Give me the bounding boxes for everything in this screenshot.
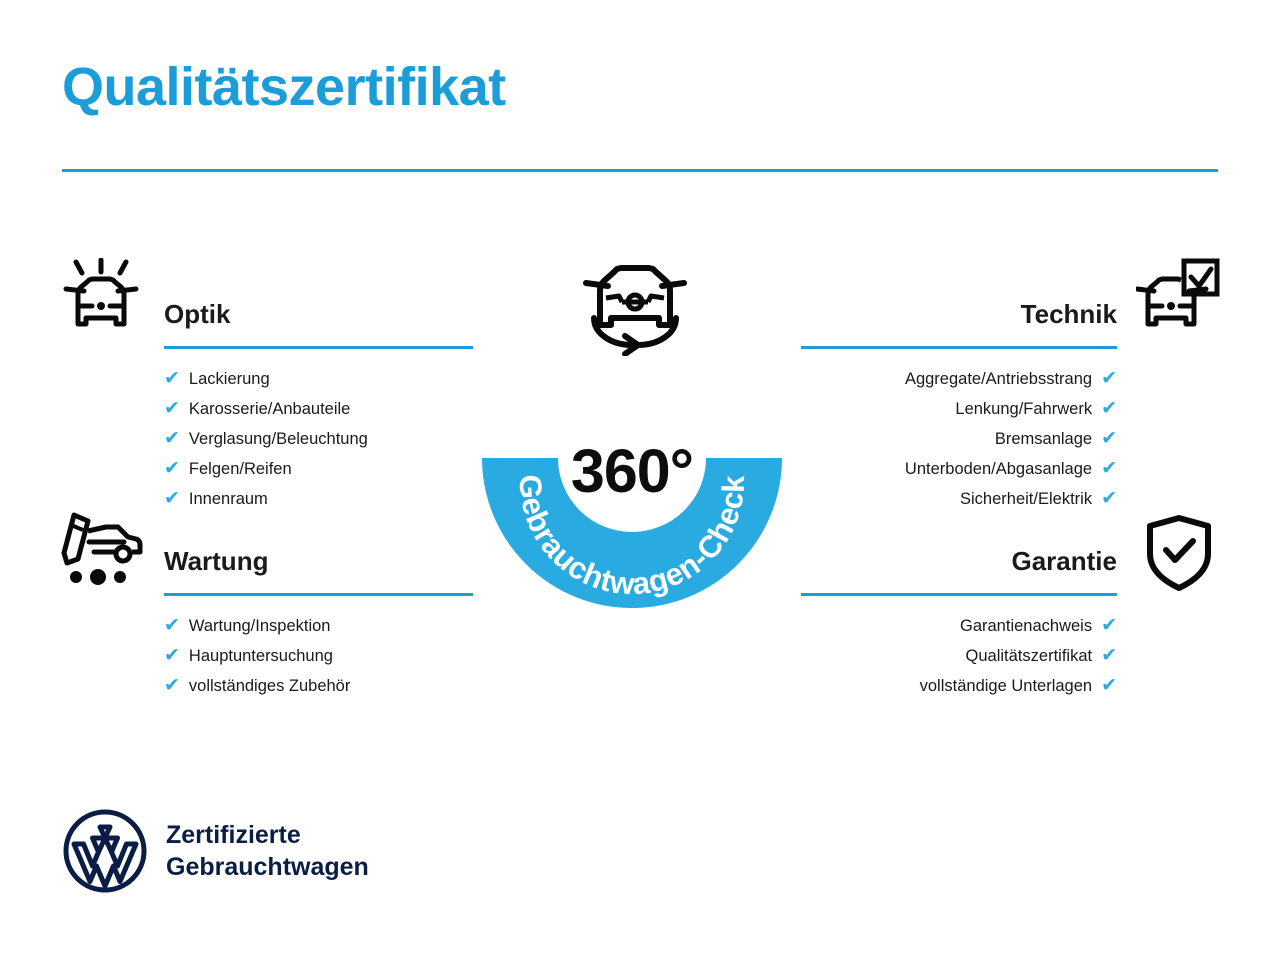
shield-check-icon	[1144, 514, 1214, 597]
check-icon: ✔	[1101, 454, 1117, 484]
section-header-wartung: Wartung	[164, 544, 473, 596]
check-icon: ✔	[164, 671, 180, 701]
list-item: Sicherheit/Elektrik ✔	[801, 484, 1117, 514]
list-item: ✔ Karosserie/Anbauteile	[164, 394, 473, 424]
check-icon: ✔	[1101, 671, 1117, 701]
list-item-label: Felgen/Reifen	[189, 454, 292, 484]
gebrauchtwagen-check-badge: Gebrauchtwagen-Check 360°	[462, 252, 812, 642]
section-wartung: Wartung ✔ Wartung/Inspektion ✔ Hauptunte…	[164, 544, 473, 701]
list-item: ✔ Wartung/Inspektion	[164, 611, 473, 641]
list-item: ✔ Hauptuntersuchung	[164, 641, 473, 671]
list-item: Lenkung/Fahrwerk ✔	[801, 394, 1117, 424]
section-divider-optik	[164, 346, 473, 349]
list-item-label: Lackierung	[189, 364, 270, 394]
section-header-optik: Optik	[164, 297, 473, 349]
list-item-label: vollständige Unterlagen	[920, 671, 1092, 701]
check-icon: ✔	[164, 394, 180, 424]
list-item-label: Bremsanlage	[995, 424, 1092, 454]
section-header-technik: Technik	[801, 297, 1117, 349]
check-icon: ✔	[164, 424, 180, 454]
list-item: ✔ Verglasung/Beleuchtung	[164, 424, 473, 454]
list-item: ✔ Lackierung	[164, 364, 473, 394]
check-icon: ✔	[1101, 424, 1117, 454]
list-item-label: Aggregate/Antriebsstrang	[905, 364, 1092, 394]
check-icon: ✔	[1101, 641, 1117, 671]
title-divider	[62, 169, 1218, 172]
section-title-optik: Optik	[164, 297, 473, 331]
checklist-garantie: Garantienachweis ✔ Qualitätszertifikat ✔…	[801, 611, 1117, 701]
section-divider-garantie	[801, 593, 1117, 596]
vw-logo-icon	[62, 808, 148, 894]
list-item: ✔ Felgen/Reifen	[164, 454, 473, 484]
list-item-label: Wartung/Inspektion	[189, 611, 331, 641]
list-item: Aggregate/Antriebsstrang ✔	[801, 364, 1117, 394]
section-title-wartung: Wartung	[164, 544, 473, 578]
checklist-wartung: ✔ Wartung/Inspektion ✔ Hauptuntersuchung…	[164, 611, 473, 701]
list-item: Bremsanlage ✔	[801, 424, 1117, 454]
check-icon: ✔	[1101, 611, 1117, 641]
footer-label: Zertifizierte Gebrauchtwagen	[166, 819, 369, 883]
list-item: ✔ vollständiges Zubehör	[164, 671, 473, 701]
vw-certified-logo: Zertifizierte Gebrauchtwagen	[62, 808, 369, 894]
list-item: Garantienachweis ✔	[801, 611, 1117, 641]
list-item-label: Unterboden/Abgasanlage	[905, 454, 1092, 484]
section-divider-wartung	[164, 593, 473, 596]
car-pencil-service-icon	[58, 509, 144, 594]
section-title-technik: Technik	[801, 297, 1117, 331]
section-optik: Optik ✔ Lackierung ✔ Karosserie/Anbautei…	[164, 297, 473, 514]
check-icon: ✔	[1101, 484, 1117, 514]
list-item-label: Lenkung/Fahrwerk	[955, 394, 1092, 424]
check-icon: ✔	[164, 484, 180, 514]
list-item-label: Verglasung/Beleuchtung	[189, 424, 368, 454]
list-item-label: Garantienachweis	[960, 611, 1092, 641]
checklist-technik: Aggregate/Antriebsstrang ✔ Lenkung/Fahrw…	[801, 364, 1117, 514]
list-item-label: vollständiges Zubehör	[189, 671, 350, 701]
list-item: ✔ Innenraum	[164, 484, 473, 514]
section-garantie: Garantie Garantienachweis ✔ Qualitätszer…	[801, 544, 1117, 701]
car-front-shine-icon	[62, 258, 140, 343]
list-item-label: Hauptuntersuchung	[189, 641, 333, 671]
check-icon: ✔	[1101, 364, 1117, 394]
section-title-garantie: Garantie	[801, 544, 1117, 578]
checklist-optik: ✔ Lackierung ✔ Karosserie/Anbauteile ✔ V…	[164, 364, 473, 514]
check-icon: ✔	[164, 364, 180, 394]
list-item: vollständige Unterlagen ✔	[801, 671, 1117, 701]
list-item-label: Qualitätszertifikat	[966, 641, 1093, 671]
list-item: Unterboden/Abgasanlage ✔	[801, 454, 1117, 484]
list-item-label: Innenraum	[189, 484, 268, 514]
section-header-garantie: Garantie	[801, 544, 1117, 596]
check-icon: ✔	[164, 611, 180, 641]
check-icon: ✔	[1101, 394, 1117, 424]
page-title: Qualitätszertifikat	[62, 58, 506, 117]
car-front-checkbox-icon	[1136, 258, 1220, 343]
check-icon: ✔	[164, 641, 180, 671]
check-icon: ✔	[164, 454, 180, 484]
list-item-label: Karosserie/Anbauteile	[189, 394, 350, 424]
list-item-label: Sicherheit/Elektrik	[960, 484, 1092, 514]
section-technik: Technik Aggregate/Antriebsstrang ✔ Lenku…	[801, 297, 1117, 514]
section-divider-technik	[801, 346, 1117, 349]
badge-degrees-label: 360°	[462, 436, 802, 506]
list-item: Qualitätszertifikat ✔	[801, 641, 1117, 671]
